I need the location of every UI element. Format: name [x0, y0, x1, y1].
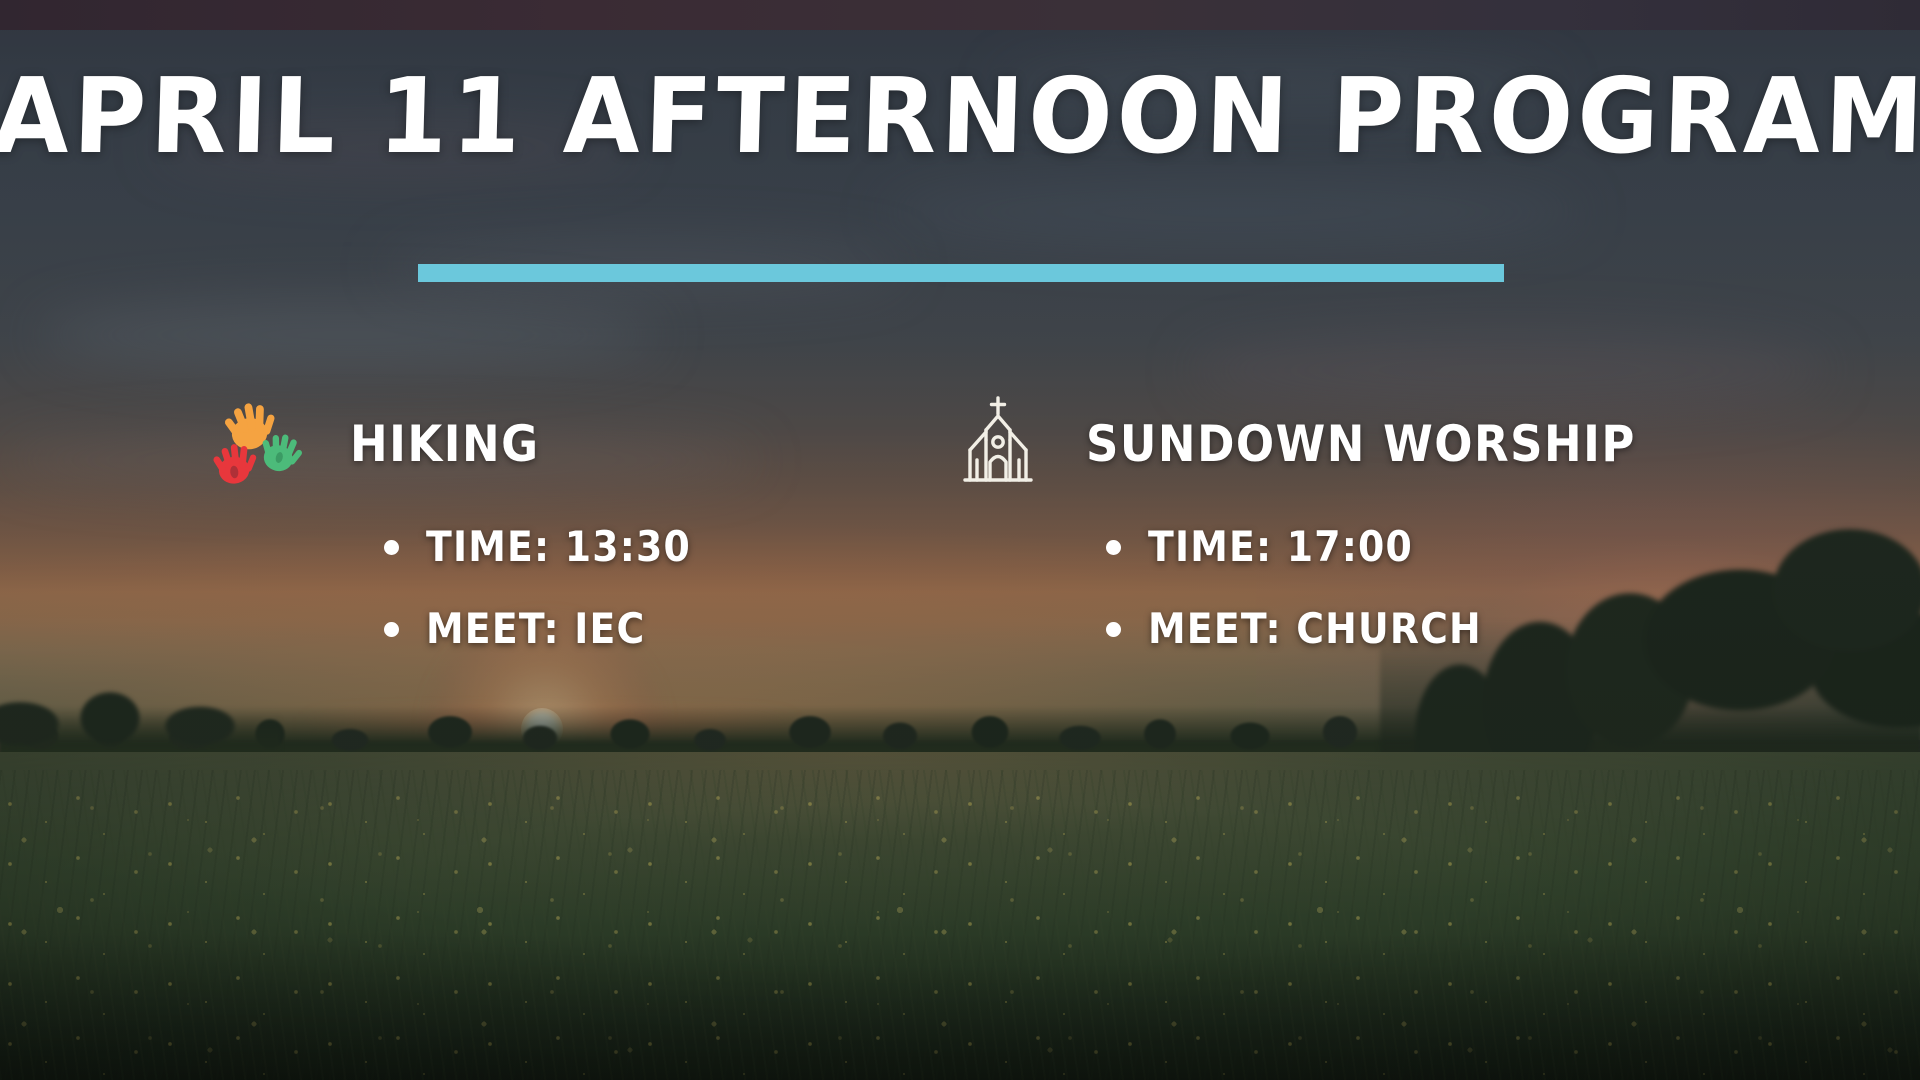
column-title-hiking: HIKING — [350, 419, 540, 469]
slide-content: APRIL 11 AFTERNOON PROGRAM — [0, 0, 1920, 1080]
program-column-hiking: HIKING TIME: 13:30 MEET: IEC — [0, 392, 940, 690]
presentation-slide: APRIL 11 AFTERNOON PROGRAM — [0, 0, 1920, 1080]
program-detail-list: TIME: 13:30 MEET: IEC — [212, 526, 940, 650]
list-item: TIME: 17:00 — [1106, 526, 1840, 568]
program-column-sundown-worship: SUNDOWN WORSHIP TIME: 17:00 MEET: CHURCH — [940, 392, 1840, 690]
program-columns: HIKING TIME: 13:30 MEET: IEC — [0, 392, 1920, 690]
list-item: TIME: 13:30 — [384, 526, 940, 568]
column-header: HIKING — [212, 392, 940, 496]
column-header: SUNDOWN WORSHIP — [948, 392, 1840, 496]
column-title-sundown-worship: SUNDOWN WORSHIP — [1086, 419, 1636, 469]
title-divider — [418, 264, 1504, 282]
church-icon — [948, 392, 1052, 496]
list-item: MEET: IEC — [384, 608, 940, 650]
page-title: APRIL 11 AFTERNOON PROGRAM — [0, 60, 1920, 172]
program-detail-list: TIME: 17:00 MEET: CHURCH — [948, 526, 1840, 650]
handprints-icon — [212, 392, 316, 496]
list-item: MEET: CHURCH — [1106, 608, 1840, 650]
